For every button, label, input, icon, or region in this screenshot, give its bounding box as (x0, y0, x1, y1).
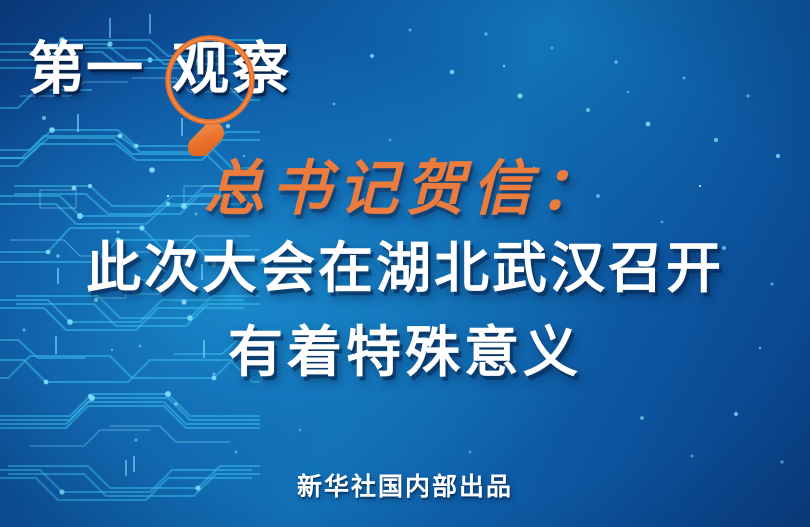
headline-line-1: 此次大会在湖北武汉召开 (0, 226, 810, 310)
magnifying-glass-icon (156, 30, 288, 156)
poster-card: 第一 观 察 总书记贺信： 此次大会在湖北武汉召开 有着特殊意义 新华社国内部出… (0, 0, 810, 527)
logo-text-first-part: 第一 (28, 37, 144, 101)
headline-title-orange: 总书记贺信： (0, 152, 810, 226)
headline-line-2: 有着特殊意义 (0, 310, 810, 394)
headline-block: 总书记贺信： 此次大会在湖北武汉召开 有着特殊意义 (0, 152, 810, 394)
brand-logo: 第一 观 察 (24, 24, 294, 136)
credit-line: 新华社国内部出品 (0, 470, 810, 504)
